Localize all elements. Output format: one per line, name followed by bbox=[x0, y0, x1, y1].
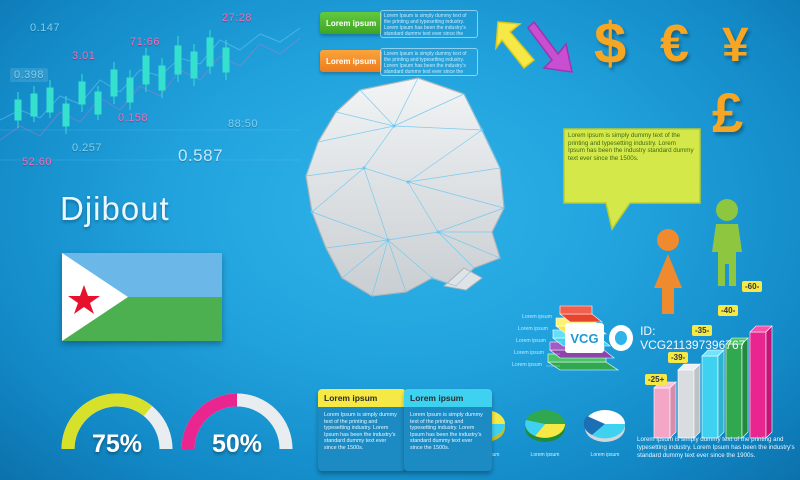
euro-symbol: € bbox=[660, 14, 689, 74]
chart-value-5: 0.158 bbox=[118, 112, 148, 124]
ribbon-lorem-orange[interactable]: Lorem ipsum bbox=[320, 50, 382, 72]
pie-caption-3: Lorem ipsum bbox=[580, 452, 630, 458]
chart-value-0: 0.147 bbox=[30, 22, 60, 34]
watermark: VCG ID: VCG211397396767 bbox=[565, 318, 755, 358]
chart-value-9: 0.587 bbox=[178, 146, 223, 166]
ribbon-green-text: Lorem Ipsum is simply dummy text of the … bbox=[384, 13, 474, 35]
bar-tag-4: -60- bbox=[742, 281, 762, 292]
gauge-75-value: 75% bbox=[58, 430, 176, 459]
ribbon-lorem-green[interactable]: Lorem ipsum bbox=[320, 12, 382, 34]
ribbon-green-label: Lorem ipsum bbox=[326, 19, 376, 28]
bar-tag-0: -25+ bbox=[645, 374, 667, 385]
dollar-symbol: $ bbox=[594, 10, 626, 77]
chart-value-6: 88:50 bbox=[228, 118, 258, 130]
chart-value-2: 71:66 bbox=[130, 36, 160, 48]
info-box-yellow[interactable]: Lorem ipsum Lorem Ipsum is simply dummy … bbox=[318, 389, 406, 471]
stock-chart: 0.147 27:28 71:66 3.01 0.398 0.158 88:50… bbox=[0, 0, 300, 185]
infographic-canvas: 0.147 27:28 71:66 3.01 0.398 0.158 88:50… bbox=[0, 0, 800, 480]
pie-caption-2: Lorem ipsum bbox=[520, 452, 570, 458]
pie-chart-2 bbox=[520, 398, 570, 446]
page-title: Djibout bbox=[60, 190, 170, 228]
speech-bubble: Lorem ipsum is simply dummy text of the … bbox=[560, 125, 702, 207]
chart-value-3: 3.01 bbox=[72, 50, 95, 62]
info-box-cyan-body: Lorem Ipsum is simply dummy text of the … bbox=[404, 407, 492, 457]
pie-chart-3 bbox=[580, 398, 630, 446]
info-box-cyan-title: Lorem ipsum bbox=[404, 389, 492, 407]
watermark-logo: VCG bbox=[565, 323, 604, 353]
flag-djibouti bbox=[62, 253, 222, 341]
gauge-50-value: 50% bbox=[178, 430, 296, 459]
ribbon-orange-text: Lorem Ipsum is simply dummy text of the … bbox=[384, 51, 474, 73]
info-box-yellow-body: Lorem Ipsum is simply dummy text of the … bbox=[318, 407, 406, 457]
yen-symbol: ¥ bbox=[722, 18, 749, 73]
map-djibouti bbox=[268, 72, 538, 352]
gauge-75: 75% bbox=[58, 383, 176, 453]
ribbon-green-body: Lorem Ipsum is simply dummy text of the … bbox=[380, 10, 478, 38]
chart-value-8: 52.60 bbox=[22, 156, 52, 168]
watermark-id: ID: VCG211397396767 bbox=[640, 324, 755, 352]
footer-text: Lorem Ipsum is simply dummy text of the … bbox=[637, 436, 797, 460]
gauge-50: 50% bbox=[178, 383, 296, 453]
map-shape bbox=[306, 78, 504, 296]
info-box-yellow-title: Lorem ipsum bbox=[318, 389, 406, 407]
chart-value-4: 0.398 bbox=[10, 68, 48, 82]
chart-value-1: 27:28 bbox=[222, 12, 252, 24]
shutter-icon bbox=[609, 325, 633, 351]
pound-symbol: £ bbox=[712, 80, 743, 145]
chart-value-7: 0.257 bbox=[72, 142, 102, 154]
person-female bbox=[648, 228, 688, 318]
bar-tag-3: -40- bbox=[718, 305, 738, 316]
person-male bbox=[706, 198, 748, 290]
info-box-cyan[interactable]: Lorem ipsum Lorem Ipsum is simply dummy … bbox=[404, 389, 492, 471]
ribbon-orange-label: Lorem ipsum bbox=[326, 57, 376, 66]
speech-bubble-text: Lorem ipsum is simply dummy text of the … bbox=[568, 132, 694, 162]
